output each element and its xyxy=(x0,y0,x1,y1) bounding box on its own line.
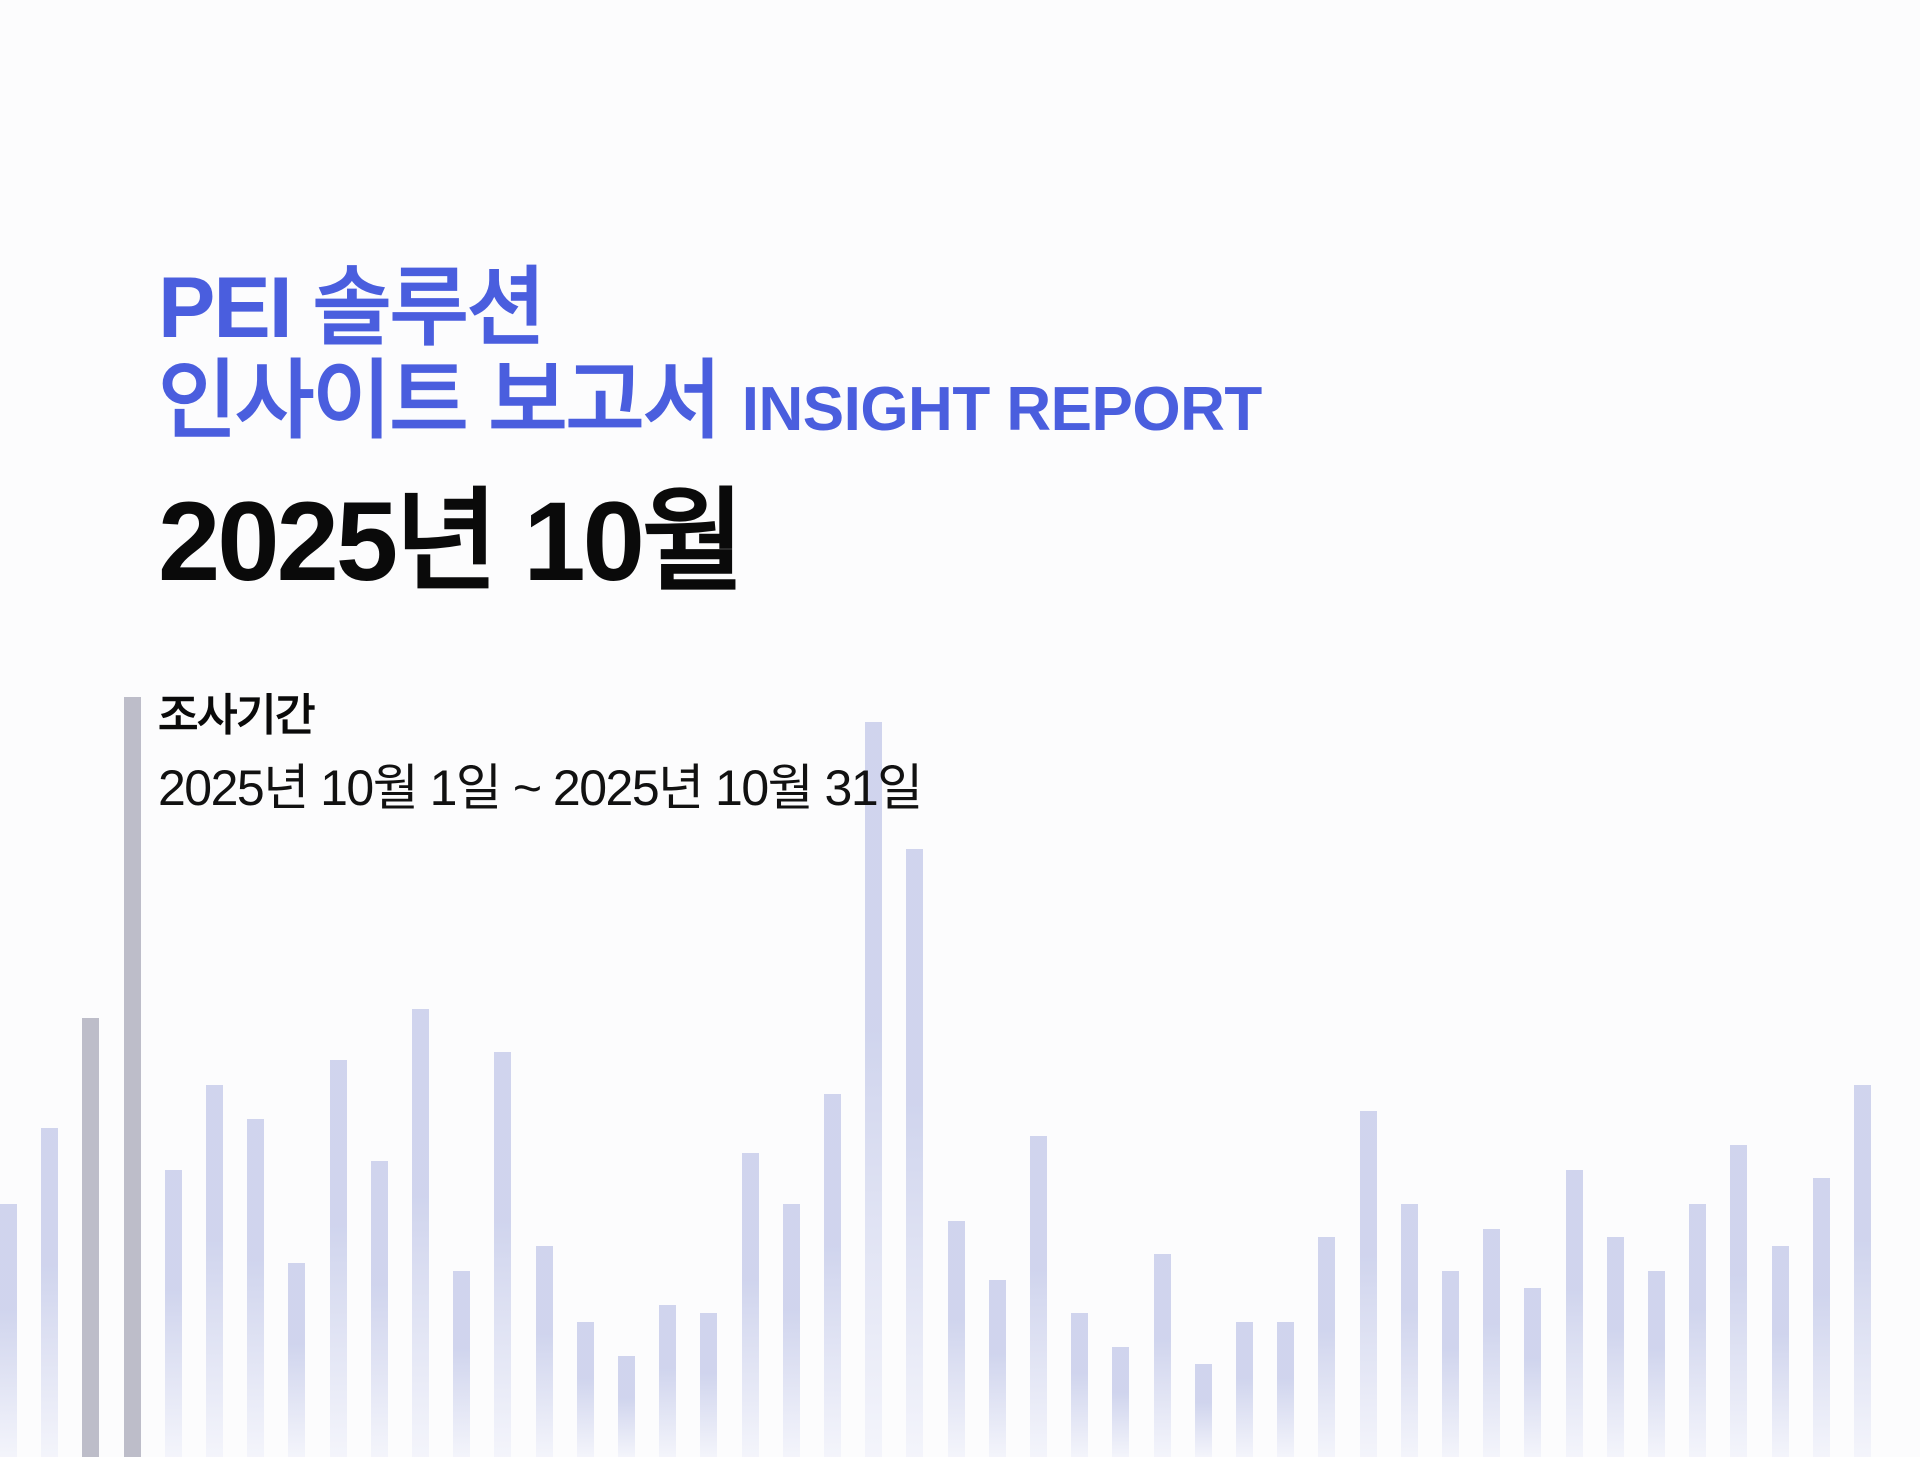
chart-bar xyxy=(1813,1178,1830,1457)
chart-bar xyxy=(1360,1111,1377,1457)
chart-bar xyxy=(1195,1364,1212,1457)
chart-bar xyxy=(371,1161,388,1457)
chart-bar xyxy=(1483,1229,1500,1457)
chart-bar xyxy=(1401,1204,1418,1457)
report-title-line-2: 인사이트 보고서 INSIGHT REPORT xyxy=(158,355,1658,448)
report-title-korean: 인사이트 보고서 xyxy=(158,355,720,448)
chart-bar xyxy=(206,1085,223,1457)
chart-bar xyxy=(536,1246,553,1457)
chart-bar xyxy=(1607,1237,1624,1457)
report-cover-page: PEI 솔루션 인사이트 보고서 INSIGHT REPORT 2025년 10… xyxy=(0,0,1920,1457)
survey-period-block: 조사기간 2025년 10월 1일 ~ 2025년 10월 31일 xyxy=(158,690,1658,819)
chart-bar xyxy=(124,697,141,1457)
chart-bar xyxy=(494,1052,511,1457)
chart-bar xyxy=(577,1322,594,1457)
chart-bar xyxy=(0,1204,17,1457)
chart-bar xyxy=(1318,1237,1335,1457)
chart-bar xyxy=(1112,1347,1129,1457)
chart-bar xyxy=(824,1094,841,1457)
chart-bar xyxy=(1772,1246,1789,1457)
chart-bar xyxy=(618,1356,635,1457)
chart-bar xyxy=(1442,1271,1459,1457)
survey-period-label: 조사기간 xyxy=(158,690,1658,743)
chart-bar xyxy=(659,1305,676,1457)
chart-bar xyxy=(700,1313,717,1457)
chart-bar xyxy=(82,1018,99,1457)
chart-bar xyxy=(247,1119,264,1457)
cover-content: PEI 솔루션 인사이트 보고서 INSIGHT REPORT 2025년 10… xyxy=(158,262,1658,819)
chart-bar xyxy=(1566,1170,1583,1457)
chart-bar xyxy=(1648,1271,1665,1457)
chart-bar xyxy=(330,1060,347,1457)
chart-bar xyxy=(165,1170,182,1457)
chart-bar xyxy=(783,1204,800,1457)
chart-bar xyxy=(1154,1254,1171,1457)
chart-bar xyxy=(1854,1085,1871,1457)
chart-bar xyxy=(1524,1288,1541,1457)
chart-bar xyxy=(1730,1145,1747,1457)
chart-bar xyxy=(1030,1136,1047,1457)
chart-bar xyxy=(865,722,882,1457)
report-month-title: 2025년 10월 xyxy=(158,486,1658,598)
report-title-line-1: PEI 솔루션 xyxy=(158,262,1658,355)
chart-bar xyxy=(288,1263,305,1457)
chart-bar xyxy=(948,1221,965,1457)
chart-bar xyxy=(1689,1204,1706,1457)
chart-bar xyxy=(989,1280,1006,1457)
chart-bar xyxy=(453,1271,470,1457)
chart-bar xyxy=(742,1153,759,1457)
chart-bar xyxy=(1236,1322,1253,1457)
survey-period-value: 2025년 10월 1일 ~ 2025년 10월 31일 xyxy=(158,757,1658,820)
chart-bar xyxy=(41,1128,58,1457)
chart-bar xyxy=(906,849,923,1457)
chart-bar xyxy=(1277,1322,1294,1457)
chart-bar xyxy=(412,1009,429,1457)
report-title-english: INSIGHT REPORT xyxy=(742,377,1262,444)
chart-bar xyxy=(1071,1313,1088,1457)
